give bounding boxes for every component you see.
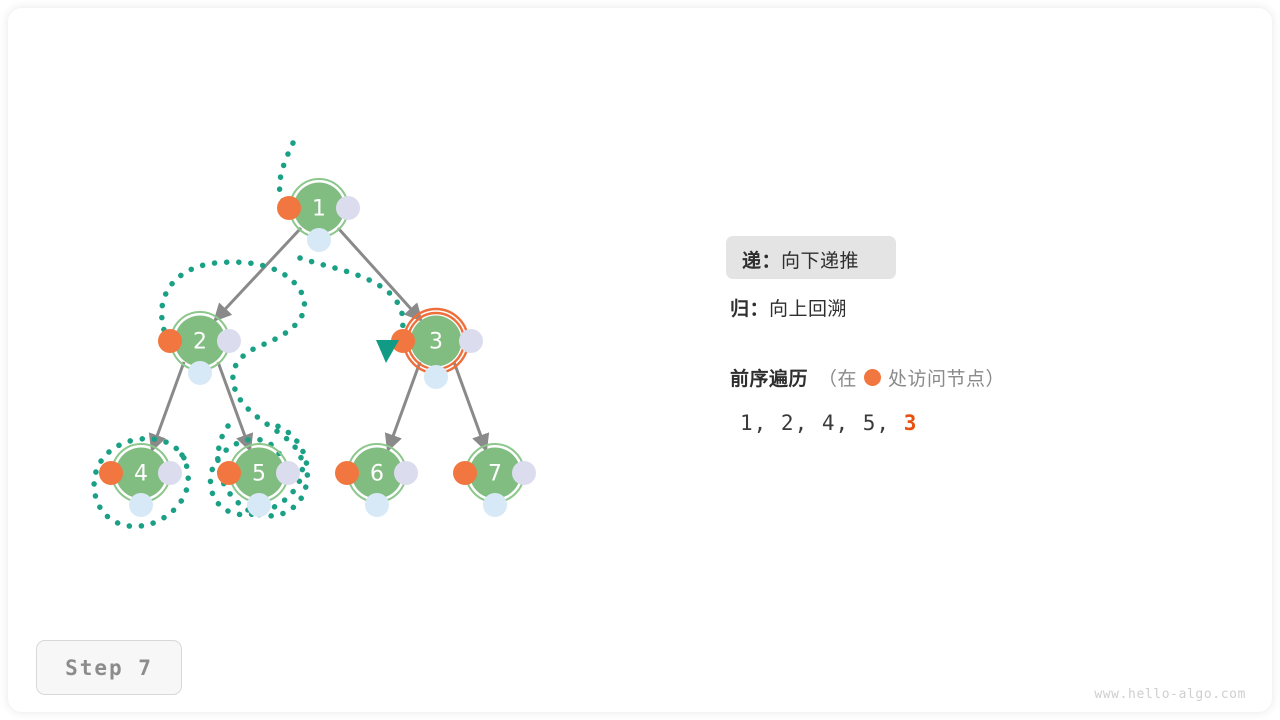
- node-1-label: 1: [312, 197, 326, 222]
- node-2-right-dot: [217, 329, 241, 353]
- node-6-visit-dot: [335, 461, 359, 485]
- node-5-label: 5: [252, 462, 266, 487]
- node-1-right-dot: [336, 196, 360, 220]
- watermark: www.hello-algo.com: [1094, 687, 1246, 702]
- legend-recurse-key: 递：: [742, 250, 781, 272]
- node-5-bottom-dot: [247, 493, 271, 517]
- node-4-label: 4: [134, 462, 148, 487]
- node-3-bottom-dot: [424, 365, 448, 389]
- traversal-title-name: 前序遍历: [730, 364, 808, 391]
- edge-3-6: [388, 362, 420, 450]
- traversal-sequence-visited: 1, 2, 4, 5,: [740, 411, 904, 435]
- traversal-title: 前序遍历 （在 处访问节点）: [730, 364, 1005, 391]
- node-6-bottom-dot: [365, 493, 389, 517]
- step-chip-label: Step 7: [65, 656, 153, 680]
- current-node-pointer-icon: [376, 340, 399, 363]
- legend-recurse-value: 向下递推: [781, 250, 859, 272]
- traversal-title-paren-close: 处访问节点）: [888, 364, 1005, 391]
- traversal-title-paren-open: （在: [818, 364, 857, 391]
- node-4-right-dot: [158, 461, 182, 485]
- node-5-visit-dot: [217, 461, 241, 485]
- node-4-visit-dot: [99, 461, 123, 485]
- diagram-stage: 1 2 3 4: [0, 0, 1280, 720]
- node-4-bottom-dot: [129, 493, 153, 517]
- visit-marker-icon: [864, 369, 881, 386]
- tree-node-6[interactable]: 6: [335, 444, 418, 517]
- edge-2-4: [152, 362, 184, 450]
- edge-1-3: [338, 228, 421, 320]
- node-7-visit-dot: [453, 461, 477, 485]
- legend-return-line: 归：向上回溯: [730, 294, 847, 321]
- edge-1-2: [215, 228, 301, 320]
- node-5-right-dot: [276, 461, 300, 485]
- tree-node-5[interactable]: 5: [217, 444, 300, 517]
- legend-recurse-line: 递：向下递推: [742, 246, 859, 273]
- node-2-visit-dot: [158, 329, 182, 353]
- tree-node-3[interactable]: 3: [391, 309, 483, 389]
- traversal-sequence-current: 3: [904, 411, 918, 435]
- node-6-label: 6: [370, 462, 384, 487]
- tree-node-2[interactable]: 2: [158, 312, 241, 385]
- edge-3-7: [454, 362, 486, 450]
- node-7-label: 7: [488, 462, 502, 487]
- node-3-right-dot: [459, 329, 483, 353]
- node-6-right-dot: [394, 461, 418, 485]
- tree-diagram: 1 2 3 4: [0, 0, 1280, 720]
- tree-node-7[interactable]: 7: [453, 444, 536, 517]
- node-1-bottom-dot: [307, 228, 331, 252]
- legend-return-key: 归：: [730, 298, 769, 320]
- tree-node-4[interactable]: 4: [99, 444, 182, 517]
- traversal-sequence: 1, 2, 4, 5, 3: [740, 411, 917, 435]
- node-2-label: 2: [193, 330, 207, 355]
- node-2-bottom-dot: [188, 361, 212, 385]
- node-7-bottom-dot: [483, 493, 507, 517]
- legend-return-value: 向上回溯: [769, 298, 847, 320]
- node-1-visit-dot: [277, 196, 301, 220]
- step-chip: Step 7: [36, 640, 182, 695]
- trace-to-node3: [300, 258, 403, 341]
- node-7-right-dot: [512, 461, 536, 485]
- node-3-label: 3: [429, 330, 443, 355]
